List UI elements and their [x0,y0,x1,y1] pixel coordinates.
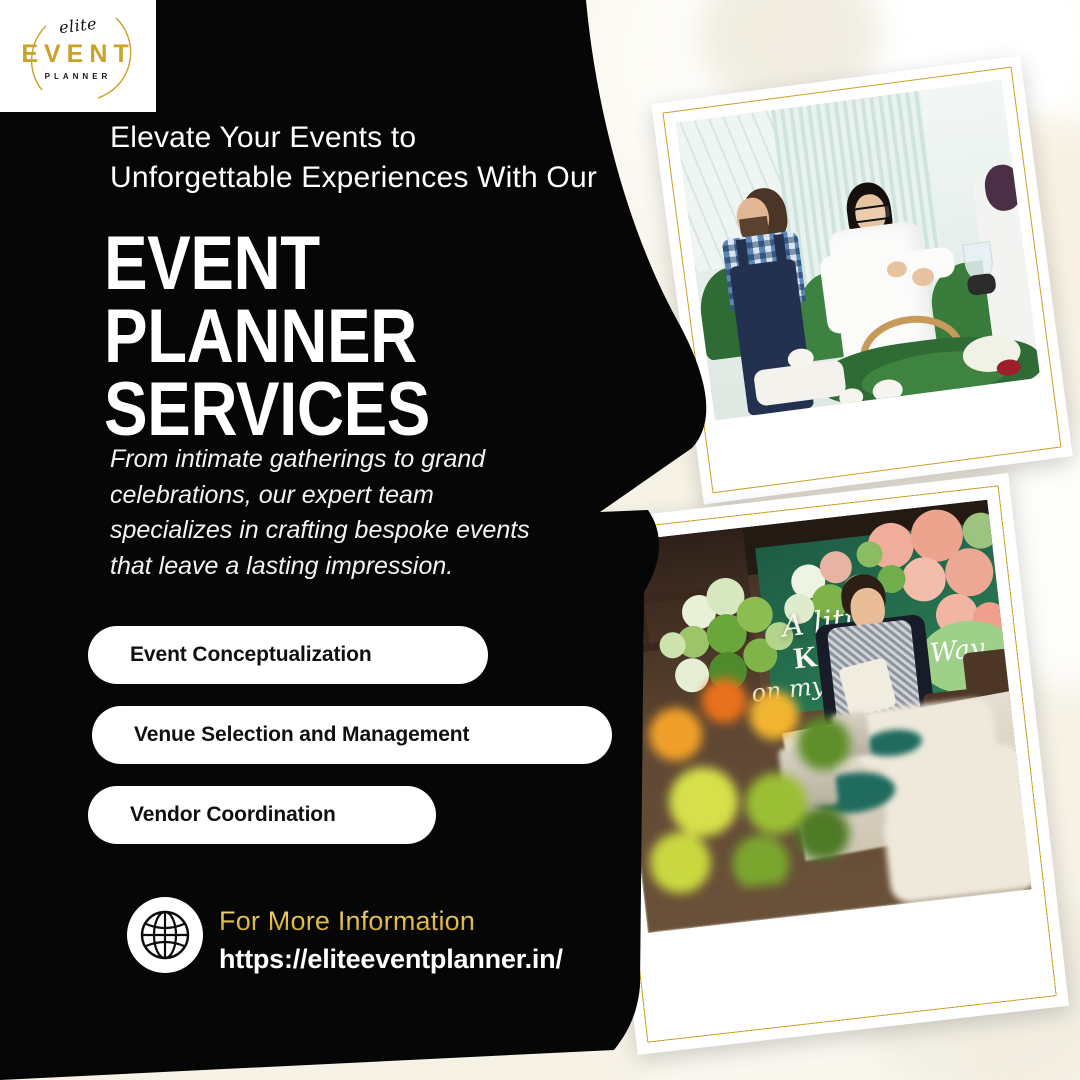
photo-gold-border [662,67,1061,494]
poster-canvas: A little KIND on my Way [0,0,1080,1080]
service-pill-venue-selection[interactable]: Venue Selection and Management [92,706,612,764]
service-pill-label: Vendor Coordination [88,803,336,827]
description-paragraph: From intimate gatherings to grand celebr… [110,442,560,584]
logo-subtitle: PLANNER [0,72,156,81]
logo-name: EVENT [0,40,156,69]
eyebrow-line-2: Unforgettable Experiences With Our [110,158,680,198]
brand-logo[interactable]: elite EVENT PLANNER [0,0,156,112]
photo-gold-border [589,485,1057,1042]
footer-website-url[interactable]: https://eliteeventplanner.in/ [219,944,563,975]
service-pill-label: Venue Selection and Management [92,723,469,747]
eyebrow-text: Elevate Your Events to Unforgettable Exp… [110,118,680,198]
globe-icon-glyph [139,909,191,961]
eyebrow-line-1: Elevate Your Events to [110,118,680,158]
service-pill-label: Event Conceptualization [88,643,372,667]
service-pill-event-conceptualization[interactable]: Event Conceptualization [88,626,488,684]
globe-icon[interactable] [127,897,203,973]
photo-card-event-team [651,55,1073,504]
footer-cta-title: For More Information [219,906,475,937]
page-title: EVENT PLANNER SERVICES [104,228,603,447]
headline-line-1: EVENT PLANNER [104,221,417,379]
headline-line-2: SERVICES [104,374,603,447]
service-pill-vendor-coordination[interactable]: Vendor Coordination [88,786,436,844]
